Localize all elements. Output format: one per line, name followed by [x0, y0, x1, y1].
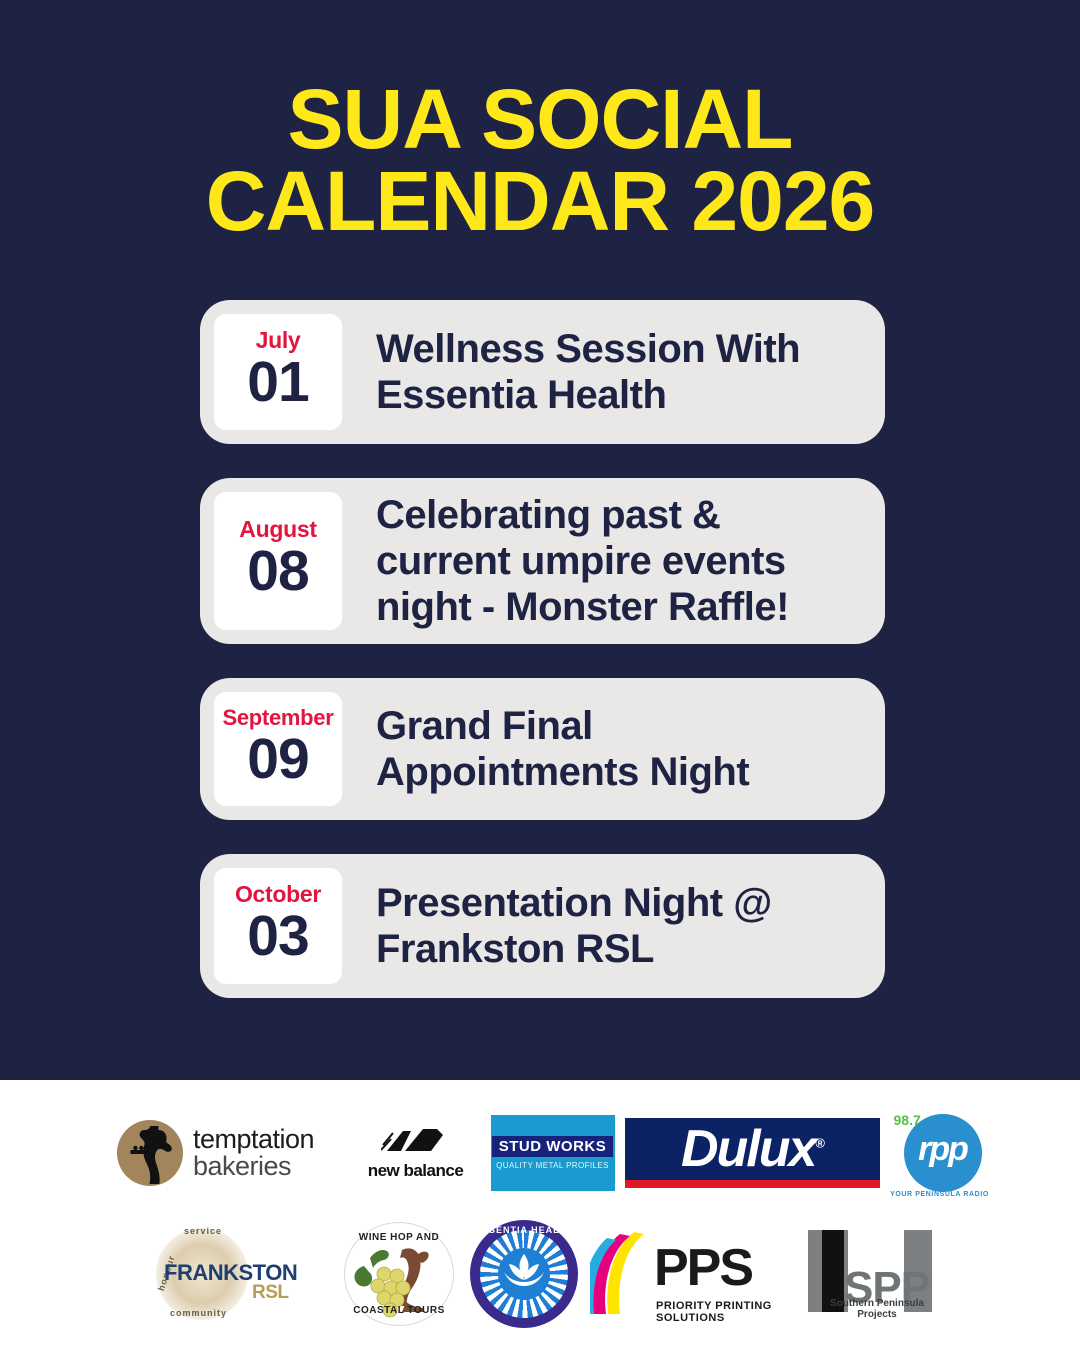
event-month: October	[222, 882, 334, 906]
event-month: August	[222, 517, 334, 541]
event-day: 08	[222, 541, 334, 603]
pps-label: PPS	[654, 1242, 752, 1294]
event-title: Presentation Night @ Frankston RSL	[342, 880, 871, 972]
rpp-logo: 98.7 rpp YOUR PENINSULA RADIO	[890, 1106, 990, 1200]
event-title: Celebrating past & current umpire events…	[342, 492, 871, 630]
temptation-bakeries-logo: temptation bakeries	[91, 1110, 341, 1196]
stud-works-label: STUD WORKS	[492, 1136, 614, 1157]
baker-silhouette-icon	[117, 1120, 183, 1186]
event-day: 03	[222, 906, 334, 968]
dulux-label: Dulux®	[681, 1119, 823, 1179]
wine-top-text: WINE HOP AND	[340, 1232, 458, 1243]
new-balance-label: new balance	[368, 1161, 464, 1181]
rpp-label: rpp	[904, 1132, 982, 1166]
date-tile: September 09	[214, 692, 342, 807]
rpp-tagline: YOUR PENINSULA RADIO	[890, 1191, 990, 1198]
event-card[interactable]: August 08 Celebrating past & current ump…	[200, 478, 885, 644]
essentia-label: ESSENTIA HEALTH	[468, 1225, 580, 1235]
pps-tagline: PRIORITY PRINTING SOLUTIONS	[656, 1300, 790, 1324]
rpp-frequency: 98.7	[894, 1112, 921, 1128]
temptation-wordmark: temptation bakeries	[193, 1126, 314, 1180]
event-card[interactable]: July 01 Wellness Session With Essentia H…	[200, 300, 885, 444]
spp-logo: SPP Southern Peninsula Projects	[800, 1222, 940, 1326]
spp-tagline: Southern Peninsula Projects	[814, 1298, 940, 1320]
event-card[interactable]: September 09 Grand Final Appointments Ni…	[200, 678, 885, 821]
pps-logo: PPS PRIORITY PRINTING SOLUTIONS	[590, 1228, 790, 1320]
date-tile: August 08	[214, 492, 342, 630]
title-line-1: SUA SOCIAL	[0, 78, 1080, 160]
temptation-line-1: temptation	[193, 1126, 314, 1153]
temptation-line-2: bakeries	[193, 1153, 314, 1180]
stud-works-logo: STUD WORKS QUALITY METAL PROFILES	[491, 1115, 615, 1191]
sponsor-row-2: honour service community FRANKSTON RSL	[0, 1219, 1080, 1329]
sponsor-band: temptation bakeries new balance STUD WOR…	[0, 1080, 1080, 1350]
new-balance-logo: new balance	[351, 1113, 481, 1193]
social-calendar-poster: SUA SOCIAL CALENDAR 2026 July 01 Wellnes…	[0, 0, 1080, 1350]
title-line-2: CALENDAR 2026	[0, 160, 1080, 242]
event-title: Wellness Session With Essentia Health	[342, 326, 871, 418]
event-card[interactable]: October 03 Presentation Night @ Franksto…	[200, 854, 885, 998]
date-tile: October 03	[214, 868, 342, 984]
date-tile: July 01	[214, 314, 342, 430]
page-title: SUA SOCIAL CALENDAR 2026	[0, 78, 1080, 243]
event-day: 01	[222, 352, 334, 414]
dulux-box: Dulux®	[625, 1118, 880, 1180]
baker-figure-icon	[128, 1126, 182, 1188]
new-balance-n-icon	[381, 1125, 451, 1159]
event-title: Grand Final Appointments Night	[342, 703, 871, 795]
hero-section: SUA SOCIAL CALENDAR 2026 July 01 Wellnes…	[0, 0, 1080, 1080]
wine-bottom-text: COASTAL TOURS	[340, 1305, 458, 1316]
sponsor-row-1: temptation bakeries new balance STUD WOR…	[0, 1100, 1080, 1205]
event-month: July	[222, 328, 334, 352]
stud-works-tagline: QUALITY METAL PROFILES	[496, 1161, 609, 1170]
dulux-logo: Dulux®	[625, 1117, 880, 1189]
wine-hop-coastal-tours-logo: WINE HOP AND COASTAL TOURS	[340, 1218, 458, 1330]
rsl-word-community: community	[170, 1308, 227, 1318]
frankston-rsl-logo: honour service community FRANKSTON RSL	[140, 1224, 330, 1324]
essentia-health-logo: ESSENTIA HEALTH	[468, 1218, 580, 1330]
dulux-red-bar	[625, 1180, 880, 1188]
event-list: July 01 Wellness Session With Essentia H…	[200, 300, 885, 1032]
lotus-icon	[501, 1248, 547, 1294]
rsl-word-service: service	[184, 1226, 222, 1236]
event-month: September	[222, 706, 334, 729]
event-day: 09	[222, 729, 334, 791]
rsl-label: RSL	[252, 1282, 289, 1304]
